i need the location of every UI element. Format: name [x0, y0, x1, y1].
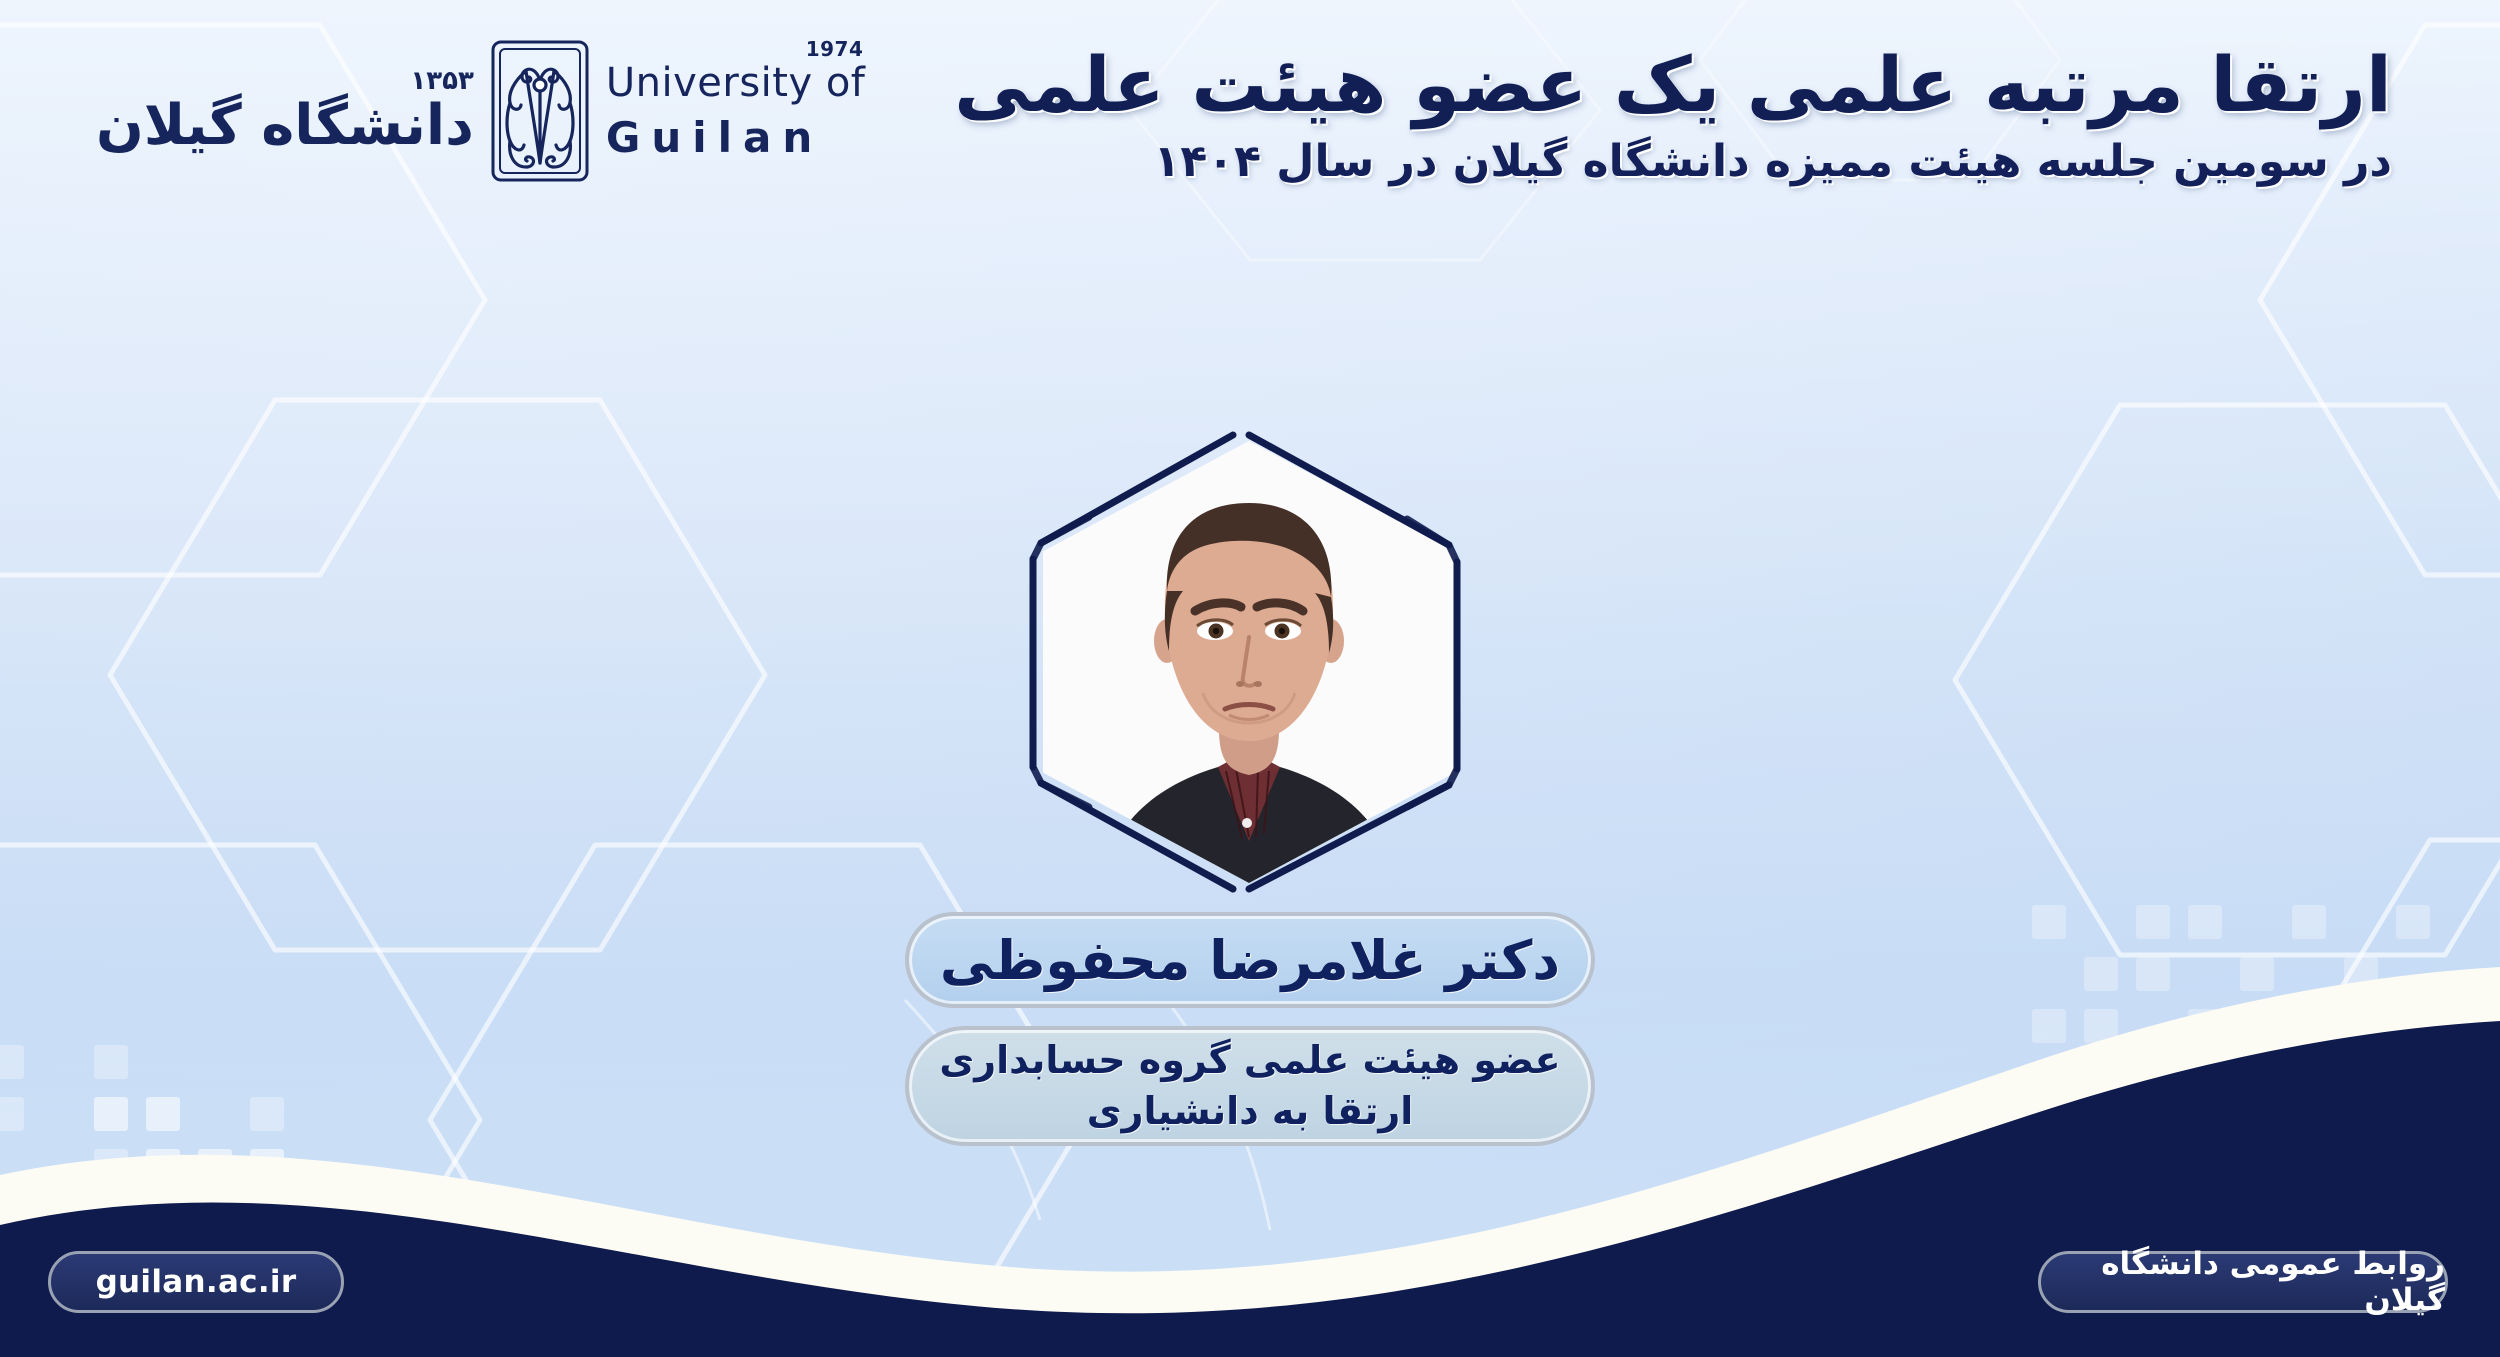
logo-guilan-label: Guilan: [606, 117, 827, 159]
public-relations-label: روابط عمومی دانشگاه گیلان: [2041, 1246, 2445, 1318]
portrait-hexagon: [1019, 427, 1479, 897]
logo-university-of-line: 1974 University of: [606, 63, 866, 103]
poster-canvas: 1974 University of Guilan: [0, 0, 2500, 1357]
logo-english-text: 1974 University of Guilan: [606, 63, 866, 159]
logo-founding-year-en: 1974: [806, 39, 864, 59]
header-block: ارتقا مرتبه علمی یک عضو هیئت علمی در سوم…: [954, 40, 2392, 187]
logo-university-of-label: University of: [606, 60, 866, 106]
logo-persian-text: ۱۳۵۳ دانشگاه گیلان: [96, 68, 474, 154]
website-url-label: guilan.ac.ir: [96, 1264, 297, 1300]
public-relations-badge: روابط عمومی دانشگاه گیلان: [2038, 1251, 2448, 1313]
page-subtitle: در سومین جلسه هیئت ممیزه دانشگاه گیلان د…: [954, 136, 2392, 187]
logo-founding-year-fa: ۱۳۵۳: [410, 68, 473, 94]
website-badge[interactable]: guilan.ac.ir: [48, 1251, 344, 1313]
guilan-emblem-icon: [488, 37, 592, 185]
logo-persian-name: دانشگاه گیلان: [96, 98, 474, 154]
page-title: ارتقا مرتبه علمی یک عضو هیئت علمی: [954, 40, 2392, 130]
university-logo: 1974 University of Guilan: [96, 46, 865, 176]
hexagon-frame-outline: [1019, 427, 1479, 897]
